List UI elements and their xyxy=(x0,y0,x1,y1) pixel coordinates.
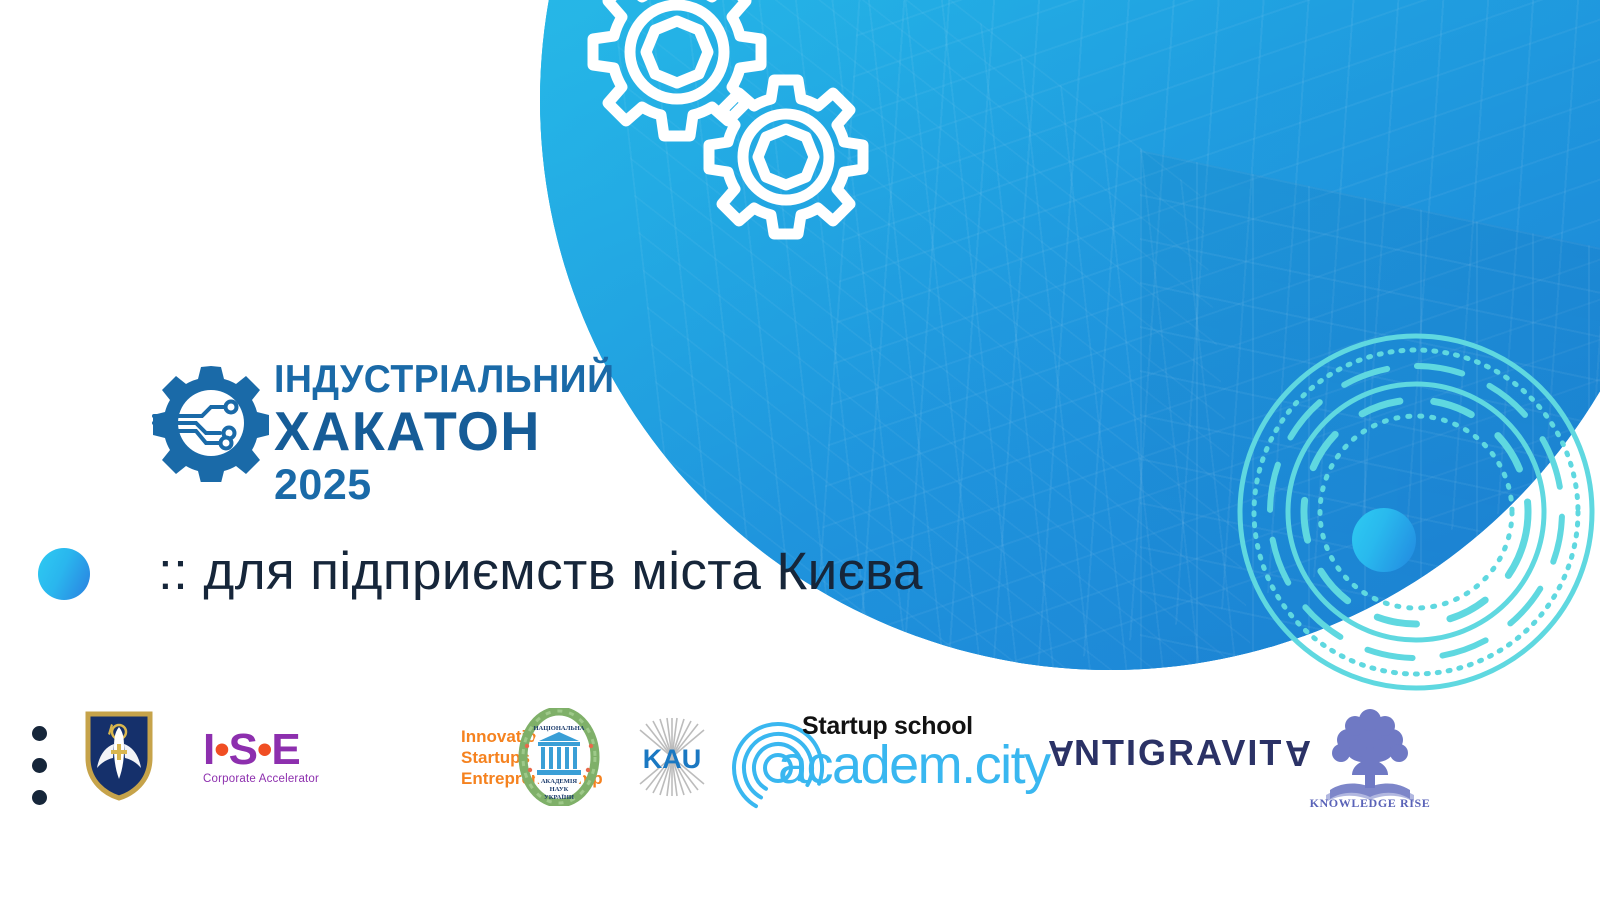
ise-dot: • xyxy=(257,725,271,774)
academ-city-label: academ.city xyxy=(778,736,1050,794)
partner-logo-nas-ukraine[interactable]: НАЦІОНАЛЬНА АКАДЕМІЯ НАУК УКРАЇНИ xyxy=(518,708,600,806)
partner-logo-kau[interactable]: KAU xyxy=(626,716,718,798)
ise-letter-i: I xyxy=(203,725,214,774)
bullet-dot xyxy=(32,726,47,741)
partner-logo-ise[interactable]: I•S•E Corporate Accelerator Innovation S… xyxy=(203,728,493,790)
ise-mark: I•S•E xyxy=(203,728,493,772)
antigravita-rest: NTIGRAVIT xyxy=(1074,732,1283,773)
event-logo: ІНДУСТРІАЛЬНИЙ ХАКАТОН 2025 xyxy=(152,358,552,508)
antigravita-letter: A xyxy=(1046,732,1074,774)
ise-letter-e: E xyxy=(271,725,299,774)
nas-text-science: НАУК xyxy=(550,786,569,793)
gear-circuit-icon xyxy=(152,364,270,482)
nas-text-academy: АКАДЕМІЯ xyxy=(541,778,578,785)
tagline-bullet-dot xyxy=(38,548,90,600)
poster-canvas: ІНДУСТРІАЛЬНИЙ ХАКАТОН 2025 :: для підпр… xyxy=(0,0,1600,900)
partner-logo-kyiv[interactable] xyxy=(84,710,154,802)
bullet-dot xyxy=(32,790,47,805)
logo-line-3: 2025 xyxy=(274,462,629,508)
partner-logo-academ-city[interactable]: Startup school academ.city xyxy=(730,706,1020,806)
gears-icon xyxy=(560,0,880,260)
knowledge-rise-caption: KNOWLEDGE RISE xyxy=(1300,796,1440,811)
tagline-text: :: для підприємств міста Києва xyxy=(158,541,1058,603)
ise-letter-s: S xyxy=(229,725,257,774)
ise-dot: • xyxy=(214,725,228,774)
partner-logo-antigravita[interactable]: ANTIGRAVITA xyxy=(1046,732,1311,774)
nas-text-ukraine: УКРАЇНИ xyxy=(544,794,574,801)
logo-line-1: ІНДУСТРІАЛЬНИЙ xyxy=(274,358,614,402)
logo-line-2: ХАКАТОН xyxy=(274,402,622,460)
partner-logos: I•S•E Corporate Accelerator Innovation S… xyxy=(78,688,1528,823)
nas-text-top: НАЦІОНАЛЬНА xyxy=(533,725,584,732)
ise-subtitle: Corporate Accelerator xyxy=(203,773,493,785)
hero-accent-dot xyxy=(1352,508,1416,572)
partner-bullet-dots xyxy=(32,726,47,822)
bullet-dot xyxy=(32,758,47,773)
antigravita-letter: A xyxy=(1283,732,1311,774)
kau-mark: KAU xyxy=(643,744,702,774)
